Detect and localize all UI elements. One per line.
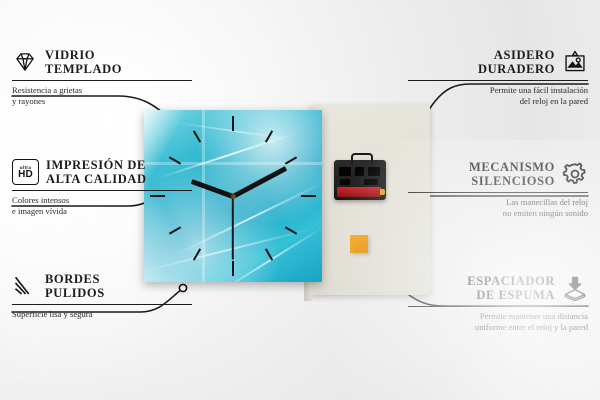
hour-hand [191, 179, 234, 199]
mechanism-detail [340, 179, 350, 185]
diamond-icon [12, 49, 38, 75]
feature-divider [12, 80, 192, 81]
feature-desc-line2: uniforme entre el reloj y la pared [408, 322, 588, 333]
hanging-frame-icon [562, 49, 588, 75]
feature-title-line1: BORDES [45, 272, 105, 286]
feature-title: BORDES PULIDOS [45, 272, 105, 300]
feature-desc-line1: Permite una fácil instalación [408, 85, 588, 96]
hour-tick [232, 116, 234, 131]
feature-title-line2: SILENCIOSO [469, 174, 555, 188]
feature-desc-line1: Las manecillas del reloj [408, 197, 588, 208]
mechanism-detail [368, 167, 380, 176]
feature-description: Permite mantener una distancia uniforme … [408, 311, 588, 333]
feature-desc-line2: y rayones [12, 96, 192, 107]
battery [337, 187, 381, 197]
ultra-hd-icon: ultra HD [12, 159, 39, 185]
mechanism-hook [351, 153, 373, 164]
mechanism-detail [364, 179, 378, 185]
polished-edges-icon [12, 273, 38, 299]
second-hand [232, 196, 234, 260]
minute-hand [232, 166, 287, 199]
feature-title: VIDRIO TEMPLADO [45, 48, 122, 76]
gear-icon [562, 161, 588, 187]
clock-center-pin [231, 194, 236, 199]
feature-bordes-pulidos: BORDES PULIDOS Superficie lisa y segura [12, 272, 192, 320]
feature-desc-line2: no emiten ningún sonido [408, 208, 588, 219]
feature-title: MECANISMO SILENCIOSO [469, 160, 555, 188]
feature-desc-line1: Resistencia a grietas [12, 85, 192, 96]
feature-desc-line2: e imagen vívida [12, 206, 192, 217]
feature-divider [408, 306, 588, 307]
hour-tick [169, 226, 181, 234]
feature-title-line2: PULIDOS [45, 286, 105, 300]
feature-description: Permite una fácil instalación del reloj … [408, 85, 588, 107]
feature-divider [408, 192, 588, 193]
hour-tick [301, 195, 316, 197]
feature-impresion-alta-calidad: ultra HD IMPRESIÓN DE ALTA CALIDAD Color… [12, 158, 192, 217]
feature-title: ASIDERO DURADERO [478, 48, 555, 76]
feature-header: ultra HD IMPRESIÓN DE ALTA CALIDAD [12, 158, 192, 186]
feature-desc-line2: del reloj en la pared [408, 96, 588, 107]
hour-tick [193, 248, 201, 260]
feature-title: IMPRESIÓN DE ALTA CALIDAD [46, 158, 147, 186]
hour-tick [193, 130, 201, 142]
feature-header: VIDRIO TEMPLADO [12, 48, 192, 76]
feature-divider [408, 80, 588, 81]
feature-mecanismo-silencioso: MECANISMO SILENCIOSO Las manecillas del … [408, 160, 588, 219]
mechanism-detail [355, 167, 364, 176]
arrow-onto-layers-icon [562, 275, 588, 301]
ultra-hd-large-text: HD [18, 170, 33, 180]
feature-header: ESPACIADOR DE ESPUMA [408, 274, 588, 302]
infographic-canvas: VIDRIO TEMPLADO Resistencia a grietas y … [0, 0, 600, 400]
feature-title-line2: DE ESPUMA [467, 288, 555, 302]
feature-desc-line1: Superficie lisa y segura [12, 309, 192, 320]
feature-title-line2: DURADERO [478, 62, 555, 76]
feature-header: MECANISMO SILENCIOSO [408, 160, 588, 188]
feature-espaciador-de-espuma: ESPACIADOR DE ESPUMA Permite mantener un… [408, 274, 588, 333]
clock-mechanism [334, 160, 386, 200]
feature-vidrio-templado: VIDRIO TEMPLADO Resistencia a grietas y … [12, 48, 192, 107]
feature-description: Superficie lisa y segura [12, 309, 192, 320]
feature-title-line2: ALTA CALIDAD [46, 172, 147, 186]
feature-title-line1: MECANISMO [469, 160, 555, 174]
feature-description: Las manecillas del reloj no emiten ningú… [408, 197, 588, 219]
feature-title-line1: ESPACIADOR [467, 274, 555, 288]
feature-title: ESPACIADOR DE ESPUMA [467, 274, 555, 302]
feature-description: Colores intensos e imagen vívida [12, 195, 192, 217]
feature-description: Resistencia a grietas y rayones [12, 85, 192, 107]
feature-title-line1: IMPRESIÓN DE [46, 158, 147, 172]
feature-asidero-duradero: ASIDERO DURADERO Permite una fácil insta… [408, 48, 588, 107]
feature-divider [12, 304, 192, 305]
feature-title-line1: ASIDERO [478, 48, 555, 62]
feature-header: BORDES PULIDOS [12, 272, 192, 300]
mechanism-detail [339, 167, 351, 176]
feature-desc-line1: Colores intensos [12, 195, 192, 206]
hour-tick [232, 261, 234, 276]
feature-desc-line1: Permite mantener una distancia [408, 311, 588, 322]
foam-spacer [350, 235, 368, 253]
feature-title-line1: VIDRIO [45, 48, 122, 62]
feature-header: ASIDERO DURADERO [408, 48, 588, 76]
feature-divider [12, 190, 192, 191]
feature-title-line2: TEMPLADO [45, 62, 122, 76]
